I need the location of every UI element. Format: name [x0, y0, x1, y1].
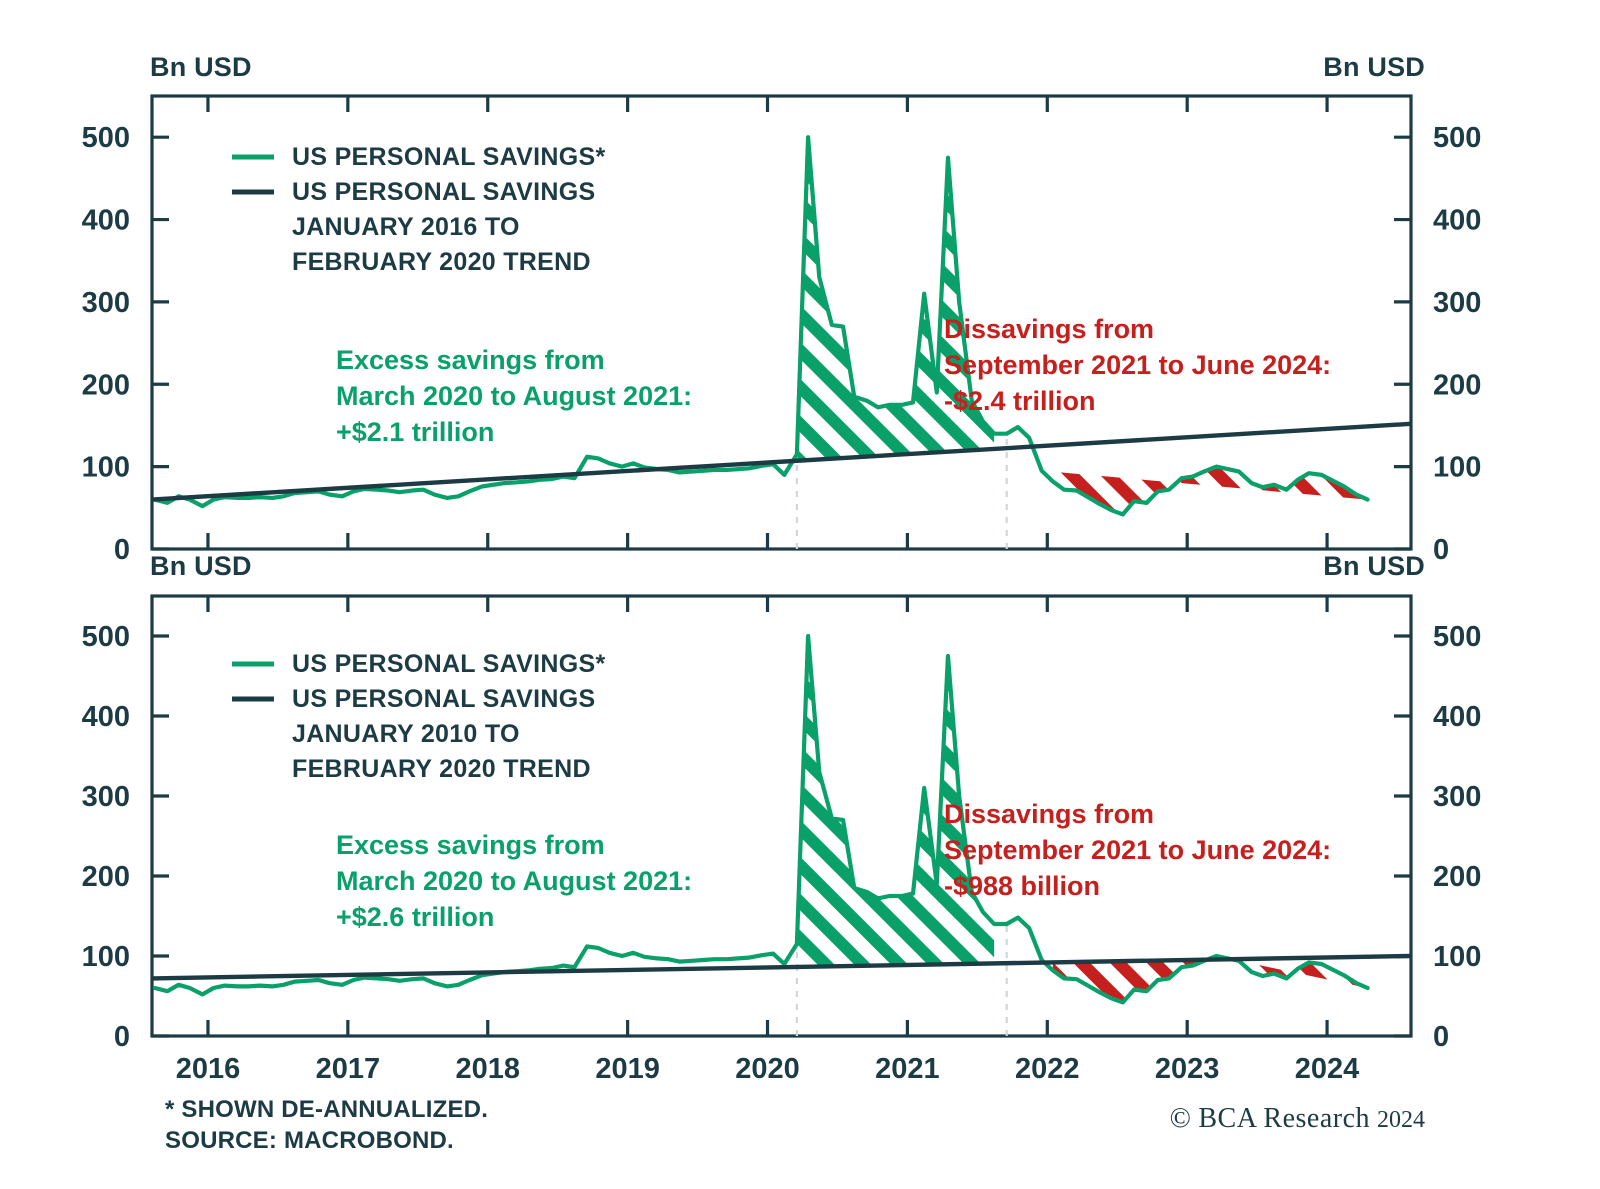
- legend-label: JANUARY 2016 TO: [292, 213, 520, 241]
- y-tick-label-right: 300: [1433, 287, 1481, 319]
- excess-savings-annotation: March 2020 to August 2021:: [336, 381, 692, 411]
- x-axis-tick-labels: 201620172018201920202021202220232024: [176, 1053, 1360, 1085]
- brand-name: BCA Research: [1198, 1103, 1370, 1134]
- y-tick-label-right: 0: [1433, 1021, 1449, 1053]
- x-tick-label: 2024: [1295, 1053, 1360, 1085]
- y-tick-label-left: 100: [82, 941, 130, 973]
- footnote-source: SOURCE: MACROBOND.: [165, 1126, 488, 1157]
- excess-savings-annotation: March 2020 to August 2021:: [336, 866, 692, 896]
- y-tick-label-right: 100: [1433, 452, 1481, 484]
- y-tick-label-left: 500: [82, 122, 130, 154]
- panel-top: 00100100200200300300400400500500US PERSO…: [82, 96, 1482, 566]
- charts-container: 00100100200200300300400400500500US PERSO…: [0, 0, 1600, 1080]
- legend-label: US PERSONAL SAVINGS: [292, 685, 595, 713]
- y-tick-label-right: 100: [1433, 941, 1481, 973]
- x-tick-label: 2023: [1155, 1053, 1220, 1085]
- x-tick-label: 2017: [316, 1053, 381, 1085]
- y-tick-label-right: 500: [1433, 621, 1481, 653]
- panel-bottom: 00100100200200300300400400500500US PERSO…: [82, 596, 1482, 1053]
- dissavings-annotation: Dissavings from: [944, 314, 1154, 344]
- savings-chart-svg: 00100100200200300300400400500500US PERSO…: [0, 0, 1600, 1080]
- legend-label: US PERSONAL SAVINGS*: [292, 143, 605, 171]
- x-tick-label: 2018: [455, 1053, 520, 1085]
- y-tick-label-left: 400: [82, 701, 130, 733]
- dissavings-annotation: -$988 billion: [944, 871, 1100, 901]
- y-tick-label-right: 200: [1433, 369, 1481, 401]
- y-tick-label-left: 200: [82, 369, 130, 401]
- x-tick-label: 2019: [595, 1053, 660, 1085]
- copyright-credit: © BCA Research 2024: [1170, 1103, 1425, 1135]
- excess-savings-annotation: +$2.1 trillion: [336, 417, 494, 447]
- x-tick-label: 2016: [176, 1053, 241, 1085]
- y-tick-label-right: 0: [1433, 534, 1449, 566]
- excess-savings-annotation: Excess savings from: [336, 345, 605, 375]
- dissavings-annotation: September 2021 to June 2024:: [944, 350, 1331, 380]
- footnote-deannualized: * SHOWN DE-ANNUALIZED.: [165, 1095, 488, 1126]
- legend-label: FEBRUARY 2020 TREND: [292, 755, 591, 783]
- y-tick-label-left: 0: [114, 534, 130, 566]
- copyright-year: 2024: [1377, 1107, 1425, 1133]
- y-tick-label-left: 200: [82, 861, 130, 893]
- y-tick-label-left: 500: [82, 621, 130, 653]
- footer-notes: * SHOWN DE-ANNUALIZED. SOURCE: MACROBOND…: [165, 1095, 488, 1156]
- y-tick-label-left: 0: [114, 1021, 130, 1053]
- chart-page: Bn USD Bn USD Bn USD Bn USD 001001002002…: [0, 0, 1600, 1189]
- y-tick-label-right: 500: [1433, 122, 1481, 154]
- legend-label: US PERSONAL SAVINGS: [292, 178, 595, 206]
- y-tick-label-left: 400: [82, 205, 130, 237]
- y-tick-label-left: 100: [82, 452, 130, 484]
- copyright-symbol: ©: [1170, 1103, 1192, 1134]
- x-tick-label: 2021: [875, 1053, 940, 1085]
- excess-savings-annotation: Excess savings from: [336, 830, 605, 860]
- dissavings-annotation: -$2.4 trillion: [944, 386, 1096, 416]
- legend-label: FEBRUARY 2020 TREND: [292, 248, 591, 276]
- x-tick-label: 2020: [735, 1053, 800, 1085]
- dissavings-hatch-area: [1053, 960, 1368, 1003]
- y-tick-label-right: 400: [1433, 701, 1481, 733]
- excess-savings-annotation: +$2.6 trillion: [336, 902, 494, 932]
- dissavings-annotation: September 2021 to June 2024:: [944, 835, 1331, 865]
- x-tick-label: 2022: [1015, 1053, 1080, 1085]
- dissavings-annotation: Dissavings from: [944, 799, 1154, 829]
- y-tick-label-right: 400: [1433, 205, 1481, 237]
- y-tick-label-left: 300: [82, 287, 130, 319]
- y-tick-label-right: 300: [1433, 781, 1481, 813]
- y-tick-label-right: 200: [1433, 861, 1481, 893]
- y-tick-label-left: 300: [82, 781, 130, 813]
- legend-label: US PERSONAL SAVINGS*: [292, 650, 605, 678]
- legend-label: JANUARY 2010 TO: [292, 720, 520, 748]
